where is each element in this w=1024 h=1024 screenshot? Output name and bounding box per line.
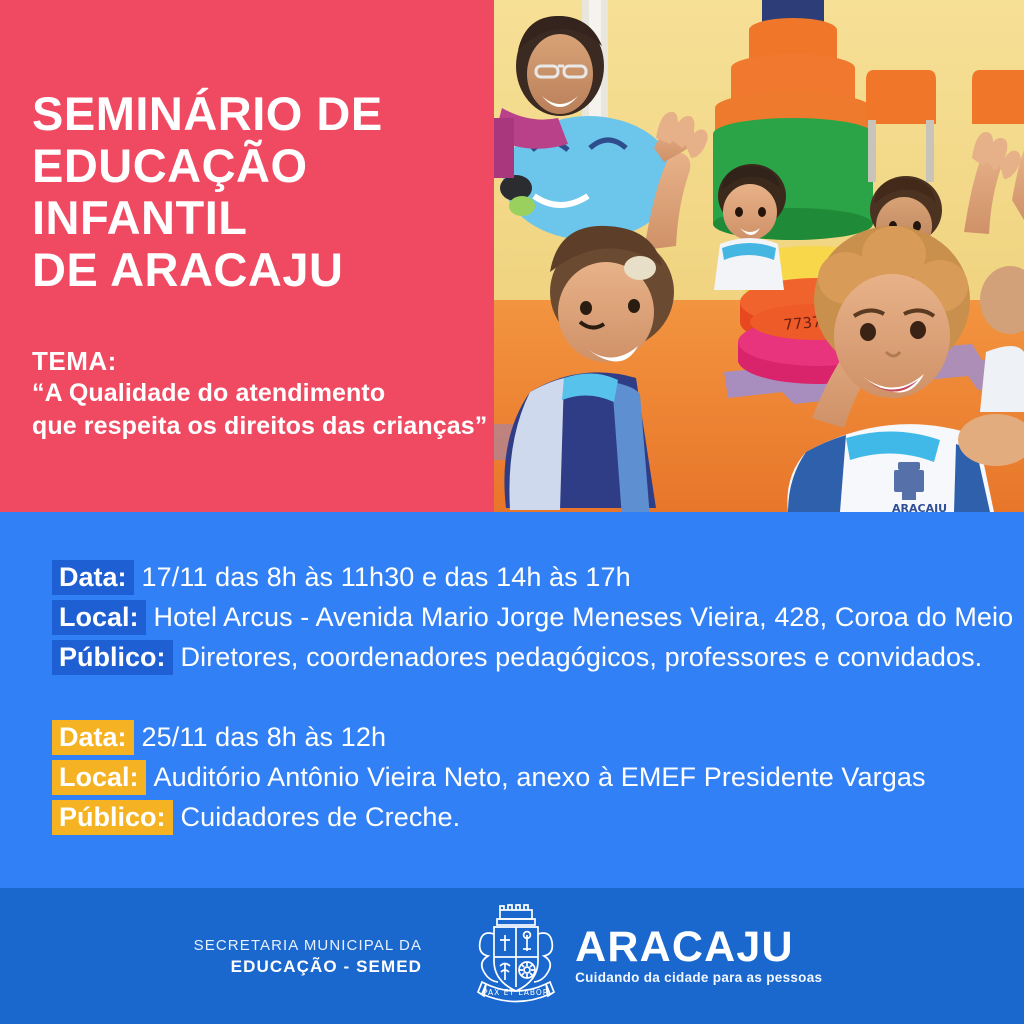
label-data: Data:	[52, 560, 134, 595]
poster: SEMINÁRIO DE EDUCAÇÃO INFANTIL DE ARACAJ…	[0, 0, 1024, 1024]
coat-of-arms-svg: PAX ET LABOR	[470, 904, 562, 1004]
label-local: Local:	[52, 760, 146, 795]
svg-text:ARACAJU: ARACAJU	[892, 502, 947, 512]
semed-line-1: SECRETARIA MUNICIPAL DA	[194, 935, 422, 956]
theme-label: TEMA:	[32, 345, 492, 377]
value-local: Auditório Antônio Vieira Neto, anexo à E…	[146, 762, 926, 792]
value-data: 25/11 das 8h às 12h	[134, 722, 387, 752]
theme-block: TEMA: “A Qualidade do atendimento que re…	[32, 345, 492, 443]
session-block-1: Data: 17/11 das 8h às 11h30 e das 14h às…	[52, 560, 1013, 680]
aracaju-coat-of-arms-icon: PAX ET LABOR	[470, 904, 562, 1009]
session-block-2: Data: 25/11 das 8h às 12h Local: Auditór…	[52, 720, 926, 840]
footer-inner: SECRETARIA MUNICIPAL DA EDUCAÇÃO - SEMED	[194, 904, 823, 1009]
session-row-data: Data: 25/11 das 8h às 12h	[52, 720, 926, 760]
value-publico: Cuidadores de Creche.	[173, 802, 461, 832]
brand-name: ARACAJU	[575, 925, 822, 969]
session-row-publico: Público: Diretores, coordenadores pedagó…	[52, 640, 1013, 680]
headline-panel: SEMINÁRIO DE EDUCAÇÃO INFANTIL DE ARACAJ…	[0, 0, 494, 512]
theme-quote-line-1: “A Qualidade do atendimento	[32, 377, 492, 410]
session-row-local: Local: Hotel Arcus - Avenida Mario Jorge…	[52, 600, 1013, 640]
label-publico: Público:	[52, 800, 173, 835]
sessions-section: Data: 17/11 das 8h às 11h30 e das 14h às…	[0, 512, 1024, 888]
label-data: Data:	[52, 720, 134, 755]
title-line-4: DE ARACAJU	[32, 244, 472, 296]
session-row-local: Local: Auditório Antônio Vieira Neto, an…	[52, 760, 926, 800]
theme-quote-line-2: que respeita os direitos das crianças”	[32, 410, 492, 443]
semed-logo: SECRETARIA MUNICIPAL DA EDUCAÇÃO - SEMED	[194, 935, 422, 978]
coat-of-arms-motto: PAX ET LABOR	[483, 988, 549, 997]
session-row-data: Data: 17/11 das 8h às 11h30 e das 14h às…	[52, 560, 1013, 600]
title-line-3: INFANTIL	[32, 192, 472, 244]
title-line-2: EDUCAÇÃO	[32, 140, 472, 192]
session-row-publico: Público: Cuidadores de Creche.	[52, 800, 926, 840]
title-line-1: SEMINÁRIO DE	[32, 88, 472, 140]
aracaju-brand-text: ARACAJU Cuidando da cidade para as pesso…	[575, 925, 822, 987]
classroom-photo: 77377	[494, 0, 1024, 512]
label-publico: Público:	[52, 640, 173, 675]
semed-line-2: EDUCAÇÃO - SEMED	[194, 956, 422, 978]
brand-tagline: Cuidando da cidade para as pessoas	[575, 969, 822, 987]
label-local: Local:	[52, 600, 146, 635]
aracaju-brand-lockup: PAX ET LABOR ARACAJU Cuidando da cidade …	[470, 904, 822, 1009]
value-local: Hotel Arcus - Avenida Mario Jorge Menese…	[146, 602, 1014, 632]
top-section: SEMINÁRIO DE EDUCAÇÃO INFANTIL DE ARACAJ…	[0, 0, 1024, 512]
value-publico: Diretores, coordenadores pedagógicos, pr…	[173, 642, 983, 672]
footer: SECRETARIA MUNICIPAL DA EDUCAÇÃO - SEMED	[0, 888, 1024, 1024]
value-data: 17/11 das 8h às 11h30 e das 14h às 17h	[134, 562, 631, 592]
classroom-photo-illustration: 77377	[494, 0, 1024, 512]
page-title: SEMINÁRIO DE EDUCAÇÃO INFANTIL DE ARACAJ…	[32, 88, 472, 296]
